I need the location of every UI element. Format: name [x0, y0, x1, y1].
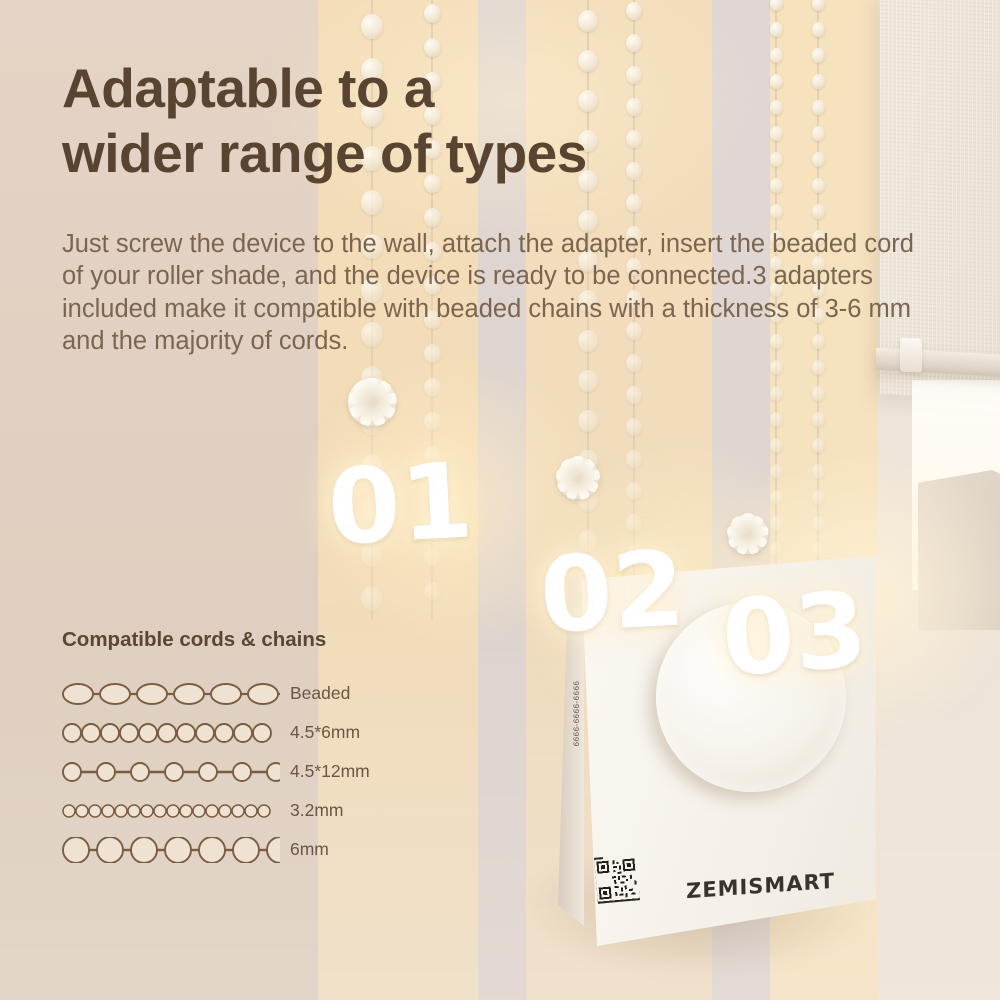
bead [424, 582, 441, 601]
headline-line-2: wider range of types [62, 121, 762, 186]
bead [770, 0, 783, 11]
bead [424, 4, 441, 23]
bead [578, 370, 598, 392]
bead [812, 542, 825, 557]
bead [770, 74, 783, 89]
bead [578, 410, 598, 432]
chain-diagram [62, 798, 280, 824]
bead [770, 204, 783, 219]
page-title: Adaptable to a wider range of types [62, 56, 762, 186]
chain-diagram [62, 720, 280, 746]
bead [812, 464, 825, 479]
bead [812, 438, 825, 453]
bead [812, 126, 825, 141]
bead [424, 38, 441, 57]
bead [770, 386, 783, 401]
bead [812, 178, 825, 193]
bead [626, 34, 642, 52]
compatibility-label: 4.5*12mm [280, 761, 370, 782]
bead [626, 194, 642, 212]
chain-diagram [62, 759, 280, 785]
bead [812, 0, 825, 11]
compatibility-label: 6mm [280, 839, 329, 860]
bead [770, 100, 783, 115]
bead [770, 412, 783, 427]
bead [424, 412, 441, 431]
bead [770, 48, 783, 63]
bead [812, 516, 825, 531]
bead [770, 152, 783, 167]
bead [770, 438, 783, 453]
step-number-01: 01 [325, 448, 475, 559]
bead [812, 74, 825, 89]
gear-wheel [728, 514, 768, 554]
step-number-02: 02 [537, 536, 687, 647]
chain-diagram [62, 837, 280, 863]
compatibility-row: Beaded [62, 674, 422, 713]
bead [812, 490, 825, 505]
bead [770, 464, 783, 479]
chain-adapter [540, 440, 616, 516]
qr-code [594, 854, 640, 903]
bead [770, 126, 783, 141]
compatibility-label: Beaded [280, 683, 350, 704]
bead [626, 450, 642, 468]
bead [812, 360, 825, 375]
bead [812, 48, 825, 63]
compatibility-section: Compatible cords & chains Beaded4.5*6mm4… [62, 628, 422, 869]
bead [812, 22, 825, 37]
bead [812, 204, 825, 219]
compatibility-label: 3.2mm [280, 800, 343, 821]
gear-wheel [557, 457, 600, 500]
compatibility-row: 6mm [62, 830, 422, 869]
compatibility-label: 4.5*6mm [280, 722, 360, 743]
bead [812, 412, 825, 427]
bead [578, 10, 598, 32]
bead [361, 190, 383, 215]
bead [812, 100, 825, 115]
chain-diagram [62, 681, 280, 707]
bead [626, 2, 642, 20]
bead [424, 208, 441, 227]
chain-adapter [330, 360, 414, 444]
bead [770, 360, 783, 375]
bead [626, 482, 642, 500]
bead [770, 22, 783, 37]
compatibility-row: 3.2mm [62, 791, 422, 830]
bead [424, 378, 441, 397]
compatibility-rows: Beaded4.5*6mm4.5*12mm3.2mm6mm [62, 674, 422, 869]
bead [812, 386, 825, 401]
bead [626, 386, 642, 404]
compatibility-row: 4.5*6mm [62, 713, 422, 752]
description-paragraph: Just screw the device to the wall, attac… [62, 228, 922, 358]
gear-wheel [348, 378, 395, 425]
product-marketing-image: 6666-6666-6666 ZEMISMART 01 02 03 Adapta… [0, 0, 1000, 1000]
bead [361, 14, 383, 39]
bead [770, 178, 783, 193]
compatibility-row: 4.5*12mm [62, 752, 422, 791]
compatibility-title: Compatible cords & chains [62, 628, 422, 652]
bead [361, 586, 383, 611]
bead [812, 152, 825, 167]
step-number-03: 03 [719, 577, 871, 691]
bead [626, 418, 642, 436]
headline-line-1: Adaptable to a [62, 56, 762, 121]
